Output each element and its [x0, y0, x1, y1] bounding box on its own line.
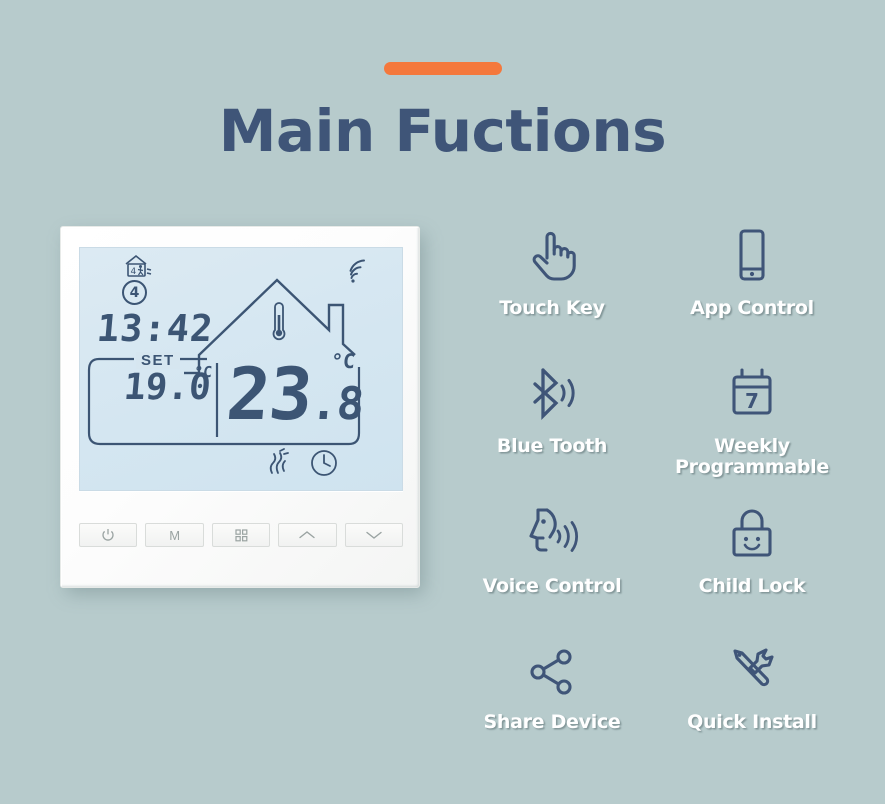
feature-share-device[interactable]: Share Device — [452, 636, 652, 762]
room-temperature-unit: °C — [330, 351, 356, 371]
padlock-smiley-icon — [728, 506, 776, 562]
speaking-face-icon — [525, 506, 579, 562]
feature-weekly-programmable[interactable]: 7 Weekly Programmable — [652, 360, 852, 500]
wrench-shape — [750, 650, 772, 673]
room-temperature-dec: .8 — [309, 377, 366, 430]
lcd-screen: 4 — [79, 247, 403, 491]
feature-icon-wrap — [730, 222, 774, 284]
accent-bar — [384, 62, 502, 75]
device-body: 4 — [60, 226, 420, 588]
mode-button-label: M — [169, 528, 180, 543]
down-button[interactable] — [345, 523, 403, 547]
smartphone-icon — [730, 228, 774, 284]
day-indicator-value: 4 — [130, 285, 140, 301]
feature-icon-wrap: 7 — [728, 360, 776, 422]
feature-touch-key[interactable]: Touch Key — [452, 222, 652, 360]
chevron-up-icon — [298, 530, 316, 540]
feature-label-line1: Weekly — [714, 435, 790, 457]
feature-icon-wrap — [527, 636, 577, 698]
feature-label: Child Lock — [699, 576, 806, 597]
page-title: Main Fuctions — [219, 97, 666, 165]
thermostat-device: 4 — [60, 226, 424, 594]
feature-icon-wrap — [726, 636, 778, 698]
heating-flame-icon — [271, 449, 288, 473]
calendar-icon: 7 — [728, 366, 776, 422]
room-temperature-int: 23 — [223, 352, 315, 436]
feature-label: Voice Control — [483, 576, 622, 597]
feature-label: Quick Install — [687, 712, 817, 733]
feature-icon-wrap — [527, 222, 577, 284]
feature-blue-tooth[interactable]: Blue Tooth — [452, 360, 652, 500]
clock-time: 13:42 — [95, 307, 215, 350]
share-nodes-icon — [527, 646, 577, 698]
feature-label: Weekly Programmable — [675, 436, 829, 477]
feature-app-control[interactable]: App Control — [652, 222, 852, 360]
clock-icon — [312, 451, 336, 475]
menu-button[interactable] — [212, 523, 270, 547]
house-person-figure — [138, 265, 143, 275]
feature-voice-control[interactable]: Voice Control — [452, 500, 652, 636]
page-header: Main Fuctions — [0, 0, 885, 180]
house-person-icon-digit: 4 — [131, 267, 137, 277]
feature-quick-install[interactable]: Quick Install — [652, 636, 852, 762]
feature-icon-wrap — [728, 500, 776, 562]
thermometer-icon — [274, 303, 285, 339]
calendar-icon-badge: 7 — [745, 389, 759, 413]
bluetooth-icon — [527, 366, 577, 422]
up-button[interactable] — [278, 523, 336, 547]
wrench-screwdriver-icon — [726, 644, 778, 698]
feature-label-line2: Programmable — [675, 456, 829, 478]
padlock-smile — [745, 545, 759, 549]
feature-label: App Control — [690, 298, 814, 319]
wifi-icon — [351, 261, 365, 283]
power-icon — [101, 528, 115, 542]
feature-label: Touch Key — [499, 298, 604, 319]
button-row: M — [79, 523, 403, 547]
pointing-hand-icon — [527, 228, 577, 284]
set-temperature-unit: °C — [193, 365, 212, 380]
day-indicator: 4 — [122, 280, 147, 305]
feature-icon-wrap — [525, 500, 579, 562]
feature-label: Share Device — [483, 712, 620, 733]
feature-label: Blue Tooth — [497, 436, 607, 457]
feature-icon-wrap — [527, 360, 577, 422]
mode-button[interactable]: M — [145, 523, 203, 547]
chevron-down-icon — [365, 530, 383, 540]
grid-icon — [235, 529, 248, 542]
feature-grid: Touch Key App Control — [452, 222, 852, 762]
feature-child-lock[interactable]: Child Lock — [652, 500, 852, 636]
power-button[interactable] — [79, 523, 137, 547]
